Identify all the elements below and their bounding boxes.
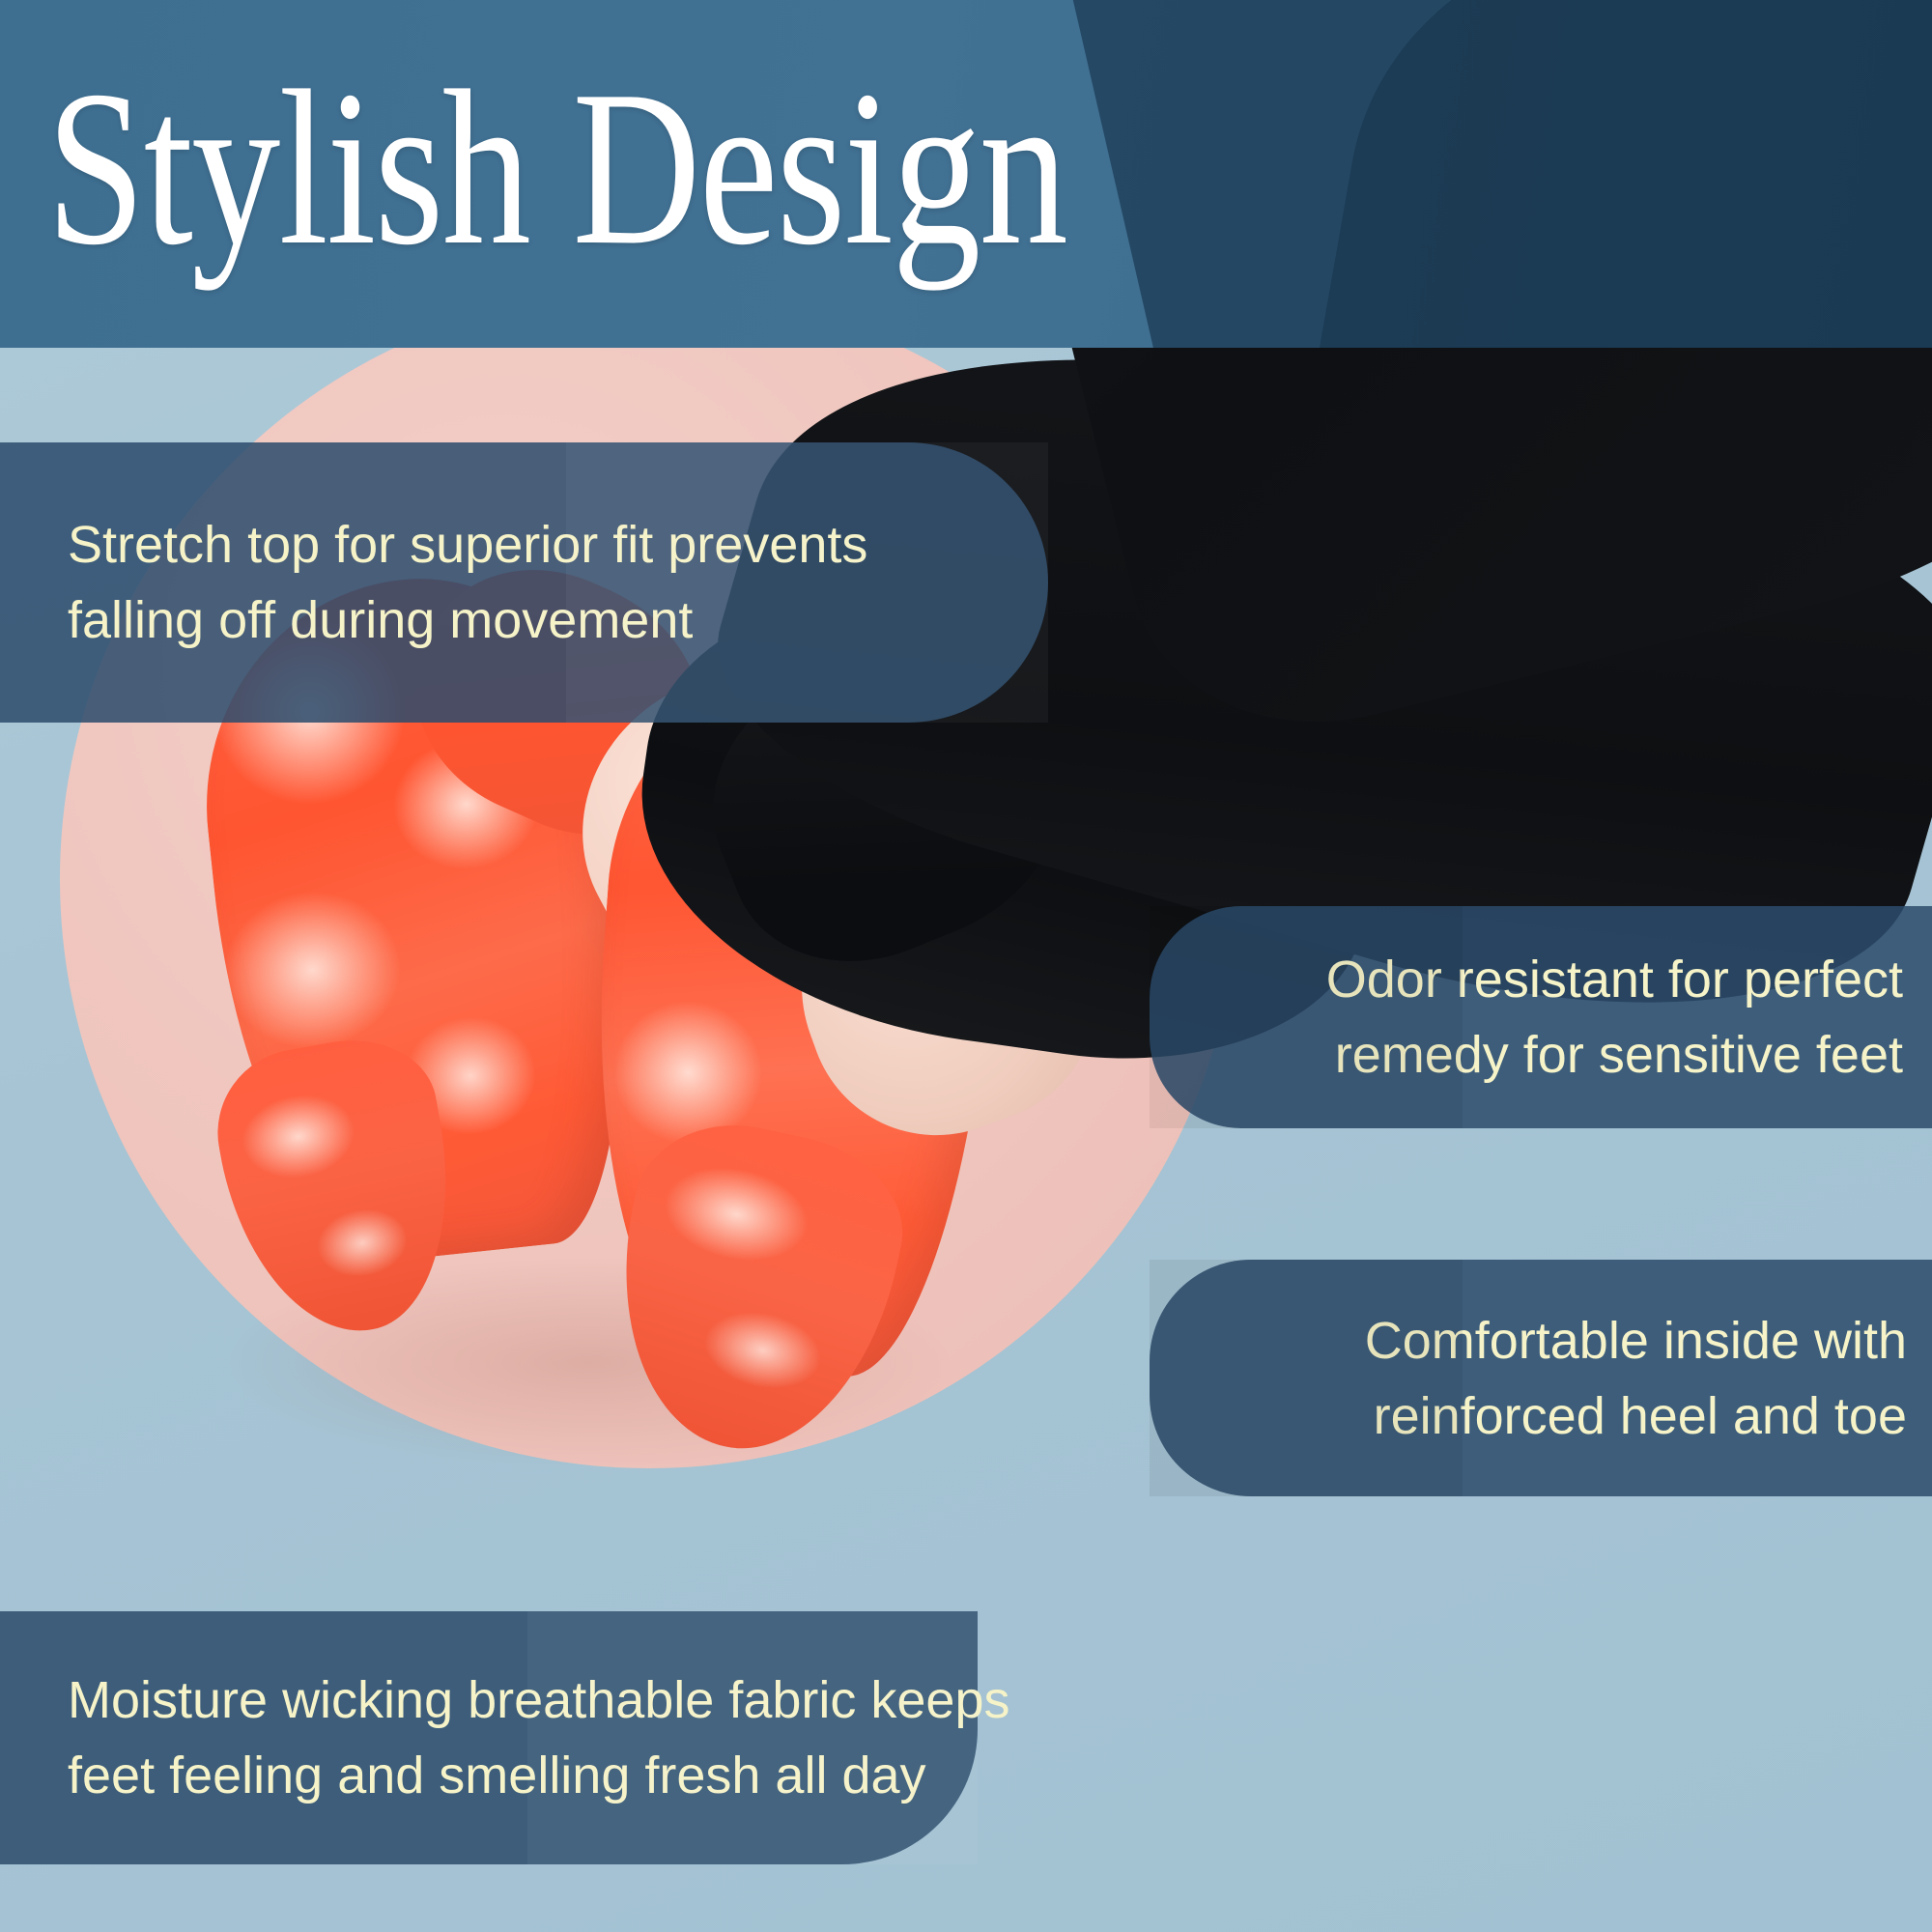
callout-comfortable-inside-line-2: reinforced heel and toe	[1374, 1378, 1907, 1454]
callout-odor-resistant: Odor resistant for perfect remedy for se…	[1150, 906, 1932, 1128]
callout-stretch-top-line-1: Stretch top for superior fit prevents	[68, 507, 874, 582]
page-title: Stylish Design	[46, 44, 1066, 291]
callout-odor-resistant-line-1: Odor resistant for perfect	[1326, 942, 1903, 1017]
callout-comfortable-inside: Comfortable inside with reinforced heel …	[1150, 1260, 1932, 1496]
callout-moisture-wicking: Moisture wicking breathable fabric keeps…	[0, 1611, 978, 1864]
callout-comfortable-inside-line-1: Comfortable inside with	[1365, 1303, 1907, 1378]
callout-stretch-top: Stretch top for superior fit prevents fa…	[0, 442, 1048, 723]
callout-moisture-wicking-line-1: Moisture wicking breathable fabric keeps	[68, 1662, 920, 1738]
callout-moisture-wicking-line-2: feet feeling and smelling fresh all day	[68, 1738, 920, 1813]
callout-odor-resistant-line-2: remedy for sensitive feet	[1335, 1017, 1903, 1093]
callout-stretch-top-line-2: falling off during movement	[68, 582, 874, 658]
infographic-canvas: Stylish Design Stretch top for superior …	[0, 0, 1932, 1932]
